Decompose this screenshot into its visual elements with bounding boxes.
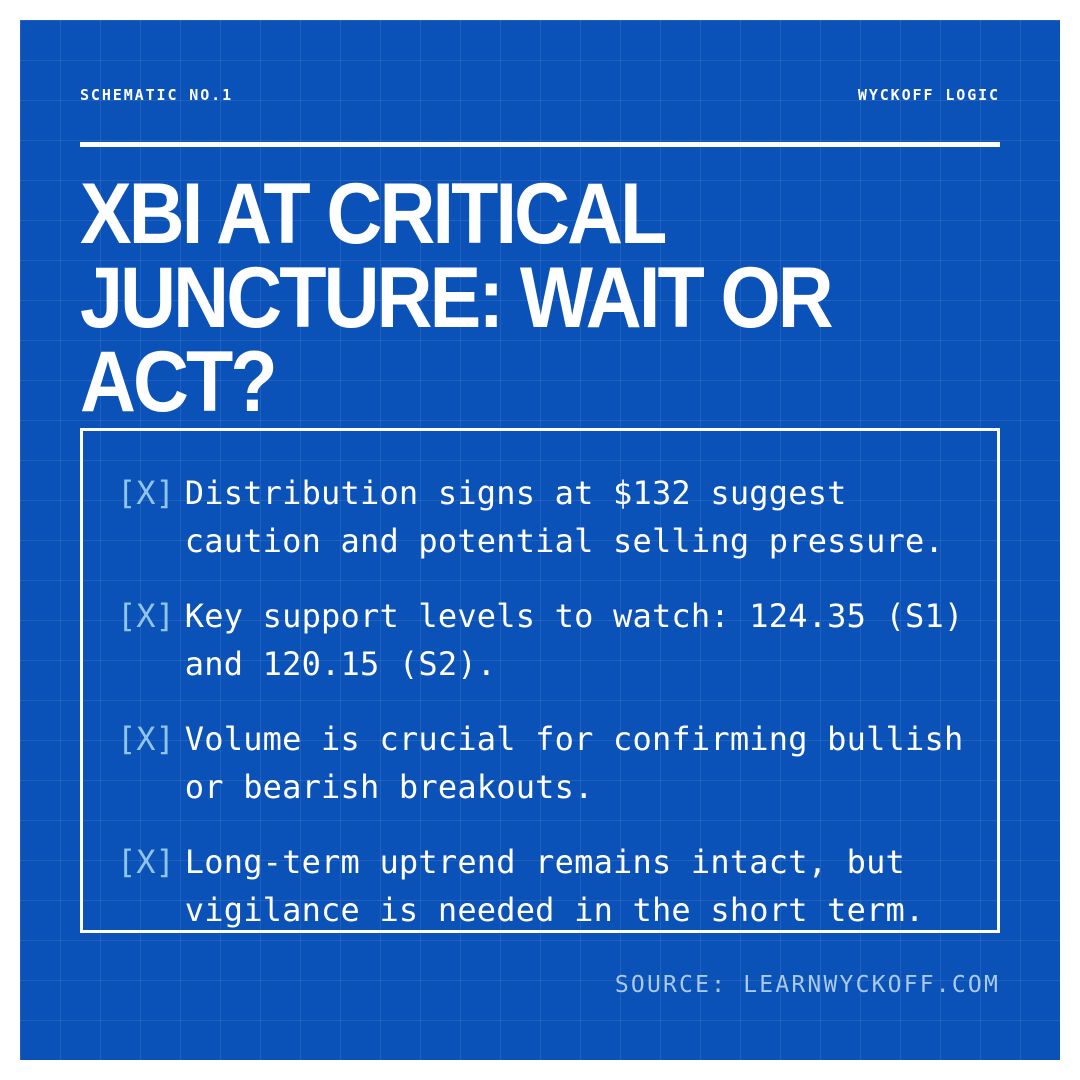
- list-item-text: Volume is crucial for confirming bullish…: [185, 715, 975, 811]
- list-item-text: Key support levels to watch: 124.35 (S1)…: [185, 592, 975, 688]
- list-item-text: Distribution signs at $132 suggest cauti…: [185, 469, 975, 565]
- key-points-list: [X] Distribution signs at $132 suggest c…: [117, 469, 975, 934]
- page-title: XBI AT CRITICAL JUNCTURE: WAIT OR ACT?: [80, 172, 1010, 424]
- checkbox-marker-icon: [X]: [117, 838, 175, 886]
- checkbox-marker-icon: [X]: [117, 592, 175, 640]
- list-item-text: Long-term uptrend remains intact, but vi…: [185, 838, 975, 934]
- poster-canvas: SCHEMATIC NO.1 WYCKOFF LOGIC XBI AT CRIT…: [0, 0, 1080, 1080]
- blueprint-card: SCHEMATIC NO.1 WYCKOFF LOGIC XBI AT CRIT…: [20, 20, 1060, 1060]
- list-item: [X] Long-term uptrend remains intact, bu…: [117, 838, 975, 934]
- title-line-3: ACT?: [80, 340, 917, 424]
- checkbox-marker-icon: [X]: [117, 715, 175, 763]
- header-divider-rule: [80, 142, 1000, 147]
- list-item: [X] Key support levels to watch: 124.35 …: [117, 592, 975, 688]
- source-attribution: SOURCE: LEARNWYCKOFF.COM: [615, 972, 1000, 998]
- header-schematic-label: SCHEMATIC NO.1: [80, 86, 233, 104]
- key-points-box: [X] Distribution signs at $132 suggest c…: [80, 428, 1000, 933]
- title-line-2: JUNCTURE: WAIT OR: [80, 256, 917, 340]
- checkbox-marker-icon: [X]: [117, 469, 175, 517]
- list-item: [X] Distribution signs at $132 suggest c…: [117, 469, 975, 565]
- list-item: [X] Volume is crucial for confirming bul…: [117, 715, 975, 811]
- title-line-1: XBI AT CRITICAL: [80, 172, 917, 256]
- card-content: SCHEMATIC NO.1 WYCKOFF LOGIC XBI AT CRIT…: [20, 20, 1060, 1060]
- header-row: SCHEMATIC NO.1 WYCKOFF LOGIC: [80, 86, 1000, 104]
- header-brand-label: WYCKOFF LOGIC: [858, 86, 1000, 104]
